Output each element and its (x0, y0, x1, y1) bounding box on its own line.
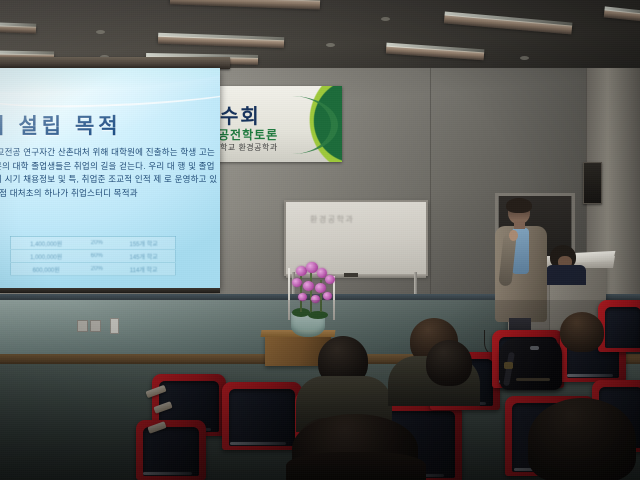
orchid-support-rod (288, 268, 290, 320)
ceiling-vent (520, 56, 529, 60)
seat-trim (567, 374, 613, 377)
backpack-buckle (504, 362, 513, 369)
orchid-stem (310, 272, 312, 312)
banner-title-line1: 수회 (220, 100, 261, 129)
whiteboard-writing: 환경공학과 (310, 214, 414, 225)
wall-seam (430, 68, 431, 300)
projection-screen: 아리 설립 목적 학에 교전공 연구자간 산촌대처 위해 대학원에 진출하는 학… (0, 68, 220, 290)
wall-switch (110, 318, 119, 334)
table-cell: 600,000원 (11, 263, 82, 276)
presenter (495, 200, 547, 346)
backpack[interactable] (500, 338, 562, 390)
slide-table: 1,400,000원 20% 155개 학교 1,000,000원 60% 14… (10, 236, 176, 276)
backpack-zipper (516, 378, 550, 381)
ceiling-light-fixture (0, 25, 36, 34)
orchid-leaf (308, 311, 328, 319)
orchid-bloom (303, 281, 314, 291)
seat-cushion (143, 427, 199, 476)
audience-head-long-hair (528, 398, 636, 480)
wall-outlet (77, 320, 88, 332)
table-cell: 155개 학교 (112, 237, 175, 250)
person-body (546, 265, 586, 285)
presenter-hair (506, 198, 532, 213)
table-cell: 114개 학교 (112, 263, 175, 276)
auditorium-seat[interactable] (222, 382, 302, 450)
seat-trim (143, 472, 192, 475)
lecture-hall-photo: 수회 공전학토론 학교 환경공학과 아리 설립 목적 학에 교전공 연구자간 산… (0, 0, 640, 480)
screen-bottom-bar (0, 288, 220, 293)
table-cell: 60% (81, 250, 112, 263)
orchid-bloom (292, 278, 302, 287)
orchid-bloom (323, 292, 332, 300)
orchid-bloom (311, 295, 320, 303)
presenter-neck (514, 221, 525, 229)
orchid-bloom (325, 275, 335, 284)
table-cell: 20% (81, 263, 112, 276)
banner-subtitle: 학교 환경공학과 (220, 142, 278, 153)
table-cell: 1,000,000원 (11, 250, 82, 263)
table-row: 1,000,000원 60% 145개 학교 (11, 250, 176, 263)
seat-cushion (605, 307, 640, 348)
ceiling-vent (326, 43, 335, 47)
banner-title-line2: 공전학토론 (218, 126, 278, 143)
table-cell: 1,400,000원 (11, 237, 82, 250)
orchid-bloom (298, 293, 307, 301)
auditorium-seat[interactable] (136, 420, 206, 480)
presenter-hand (509, 230, 518, 241)
audience-head (426, 340, 472, 386)
audience-hair-fall (286, 452, 426, 480)
audience-head (560, 312, 604, 352)
backpack-strap (503, 352, 515, 387)
seated-person-behind-podium (546, 245, 586, 283)
ceiling-vent (96, 30, 105, 34)
seat-cushion (229, 389, 295, 446)
table-cell: 145개 학교 (112, 250, 175, 263)
speaker-icon (583, 162, 602, 204)
whiteboard-eraser (344, 273, 358, 277)
seat-trim (230, 442, 286, 445)
ceiling-vent (381, 17, 390, 21)
auditorium-seat[interactable] (598, 300, 640, 352)
table-row: 1,400,000원 20% 155개 학교 (11, 237, 176, 250)
table-row: 600,000원 20% 114개 학교 (11, 263, 176, 276)
table-cell: 20% (81, 237, 112, 250)
backpack-logo (530, 346, 539, 350)
screen-glare (0, 68, 220, 171)
event-banner: 수회 공전학토론 학교 환경공학과 (214, 86, 342, 162)
wall-outlet (90, 320, 101, 332)
